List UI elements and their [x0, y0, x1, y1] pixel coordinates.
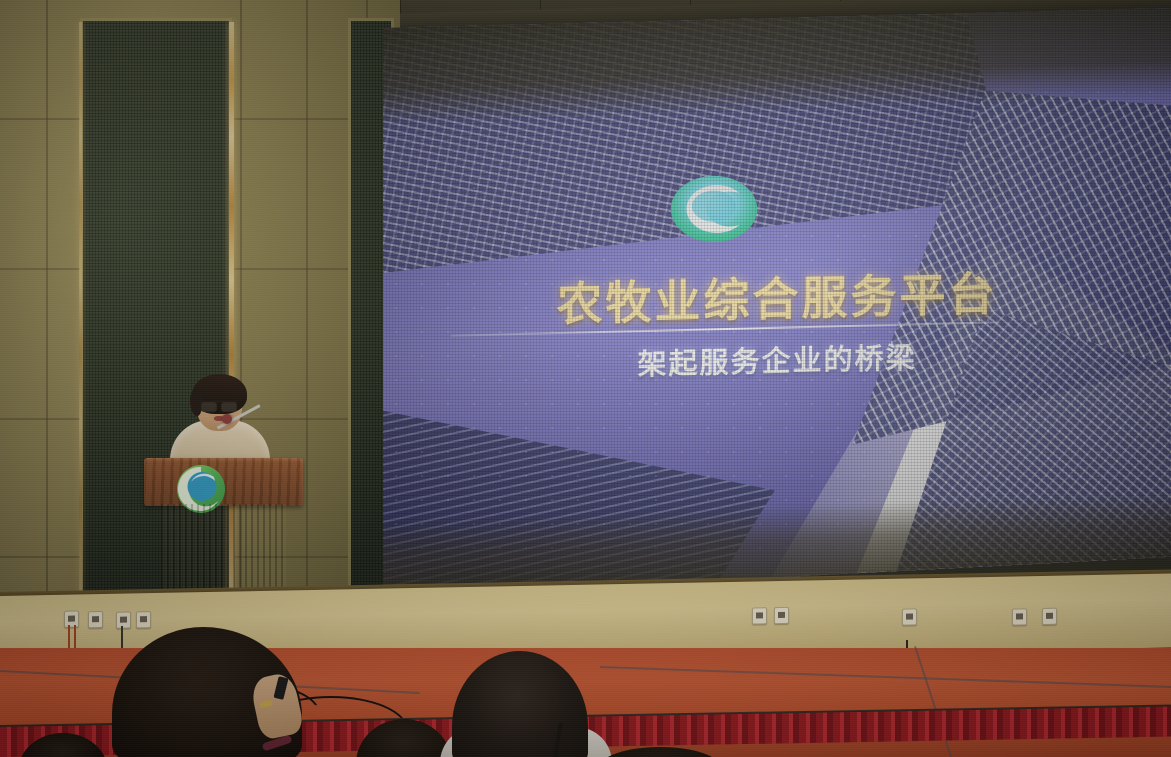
wall-power-outlet: [1042, 608, 1057, 625]
stage-panel-seam: [600, 666, 1171, 688]
podium-top-panel: [144, 458, 303, 506]
speaker-glasses: [201, 401, 237, 410]
wall-power-outlet: [752, 607, 767, 624]
wall-power-outlet: [774, 607, 789, 624]
wall-power-outlet: [902, 608, 917, 625]
presentation-slide: 农牧业综合服务平台 架起服务企业的桥梁: [383, 8, 1171, 598]
conference-photo-scene: 农牧业综合服务平台 架起服务企业的桥梁: [0, 0, 1171, 757]
wall-power-outlet: [1012, 608, 1027, 625]
wall-power-outlet: [136, 611, 151, 628]
microphone-head: [222, 414, 232, 424]
led-screen: 农牧业综合服务平台 架起服务企业的桥梁: [383, 8, 1171, 598]
company-c-swirl-logo: [668, 173, 760, 245]
